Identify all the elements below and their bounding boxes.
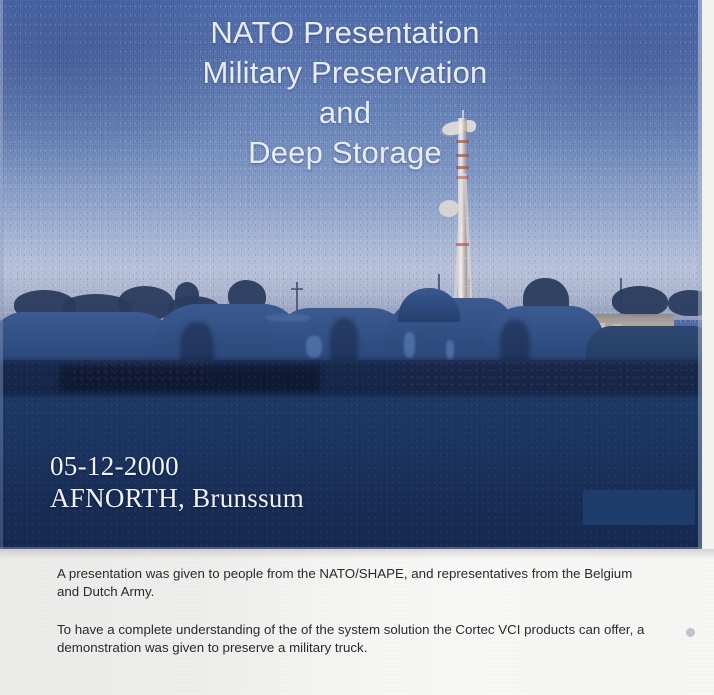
tarp-highlight-2 bbox=[404, 332, 415, 358]
slide-page: NATO Presentation Military Preservation … bbox=[0, 0, 714, 695]
tower-band-4 bbox=[456, 176, 469, 179]
title-line-3: and bbox=[0, 93, 690, 133]
tree-9 bbox=[668, 290, 702, 316]
tarp-highlight-1 bbox=[306, 336, 322, 358]
tree-8 bbox=[612, 286, 668, 316]
caption-paragraph-2: To have a complete understanding of the … bbox=[57, 621, 653, 657]
slide-date: 05-12-2000 bbox=[50, 450, 304, 482]
title-slide-photograph: NATO Presentation Military Preservation … bbox=[0, 0, 702, 549]
scan-dot-artifact bbox=[686, 628, 695, 637]
photo-edge-right bbox=[698, 0, 702, 549]
redacted-rectangle bbox=[583, 490, 695, 525]
slide-date-location: 05-12-2000 AFNORTH, Brunssum bbox=[50, 450, 304, 514]
slide-title: NATO Presentation Military Preservation … bbox=[0, 13, 690, 173]
tower-band-5 bbox=[456, 243, 469, 246]
shrouded-vehicle-4-peak bbox=[398, 288, 460, 322]
title-line-2: Military Preservation bbox=[0, 53, 690, 93]
tower-crossbrace-1 bbox=[455, 218, 470, 219]
slide-location: AFNORTH, Brunssum bbox=[50, 482, 304, 514]
utility-pole-1-crossarm bbox=[291, 288, 303, 290]
title-line-1: NATO Presentation bbox=[0, 13, 690, 53]
title-line-4: Deep Storage bbox=[0, 133, 690, 173]
tarp-highlight-4 bbox=[266, 314, 310, 322]
caption-paragraph-1: A presentation was given to people from … bbox=[57, 565, 653, 601]
paper-top-shading bbox=[0, 549, 714, 559]
caption-text-area: A presentation was given to people from … bbox=[0, 549, 714, 695]
tarp-highlight-3 bbox=[446, 340, 454, 360]
tower-crossbrace-2 bbox=[455, 258, 470, 259]
mast-light-pole bbox=[467, 278, 470, 300]
